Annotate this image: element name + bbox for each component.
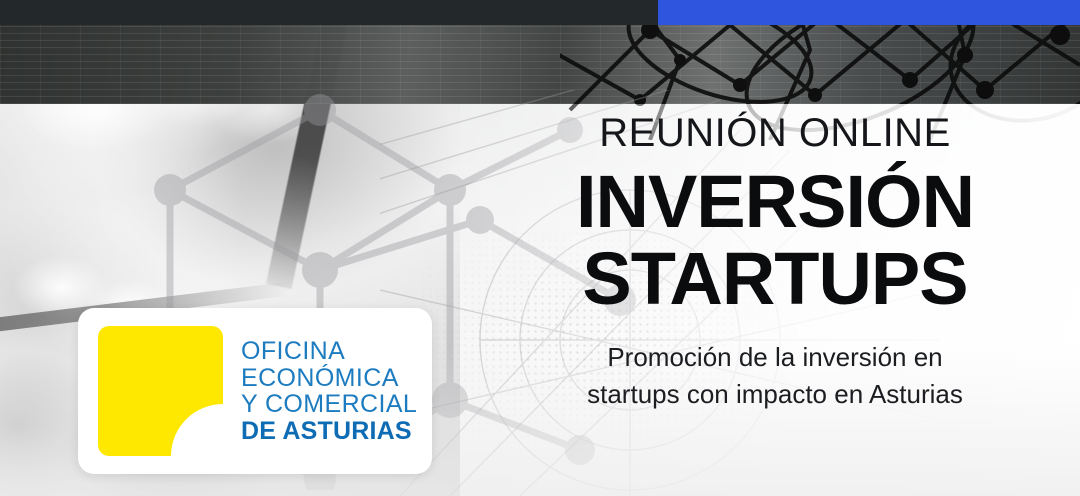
logo-line-2: ECONÓMICA (241, 365, 417, 392)
asturias-logo-icon (98, 326, 223, 456)
promo-banner: REUNIÓN ONLINE INVERSIÓN STARTUPS Promoc… (0, 0, 1080, 496)
topbar-dark-segment (0, 0, 658, 25)
subtitle-line-2: startups con impacto en Asturias (587, 379, 963, 409)
topbar-blue-segment (658, 0, 1080, 25)
logo-card[interactable]: OFICINA ECONÓMICA Y COMERCIAL DE ASTURIA… (78, 308, 432, 474)
headline-line-2: STARTUPS (470, 241, 1080, 316)
eyebrow-text: REUNIÓN ONLINE (470, 112, 1080, 154)
logo-line-3: Y COMERCIAL (241, 391, 417, 418)
logo-text-block: OFICINA ECONÓMICA Y COMERCIAL DE ASTURIA… (241, 338, 417, 444)
logo-line-1: OFICINA (241, 338, 417, 365)
logo-line-4: DE ASTURIAS (241, 418, 417, 445)
headline-text-block: REUNIÓN ONLINE INVERSIÓN STARTUPS Promoc… (470, 112, 1080, 413)
subtitle-text: Promoción de la inversión en startups co… (470, 339, 1080, 413)
top-color-bar (0, 0, 1080, 25)
subtitle-line-1: Promoción de la inversión en (607, 342, 942, 372)
headline-line-1: INVERSIÓN (470, 164, 1080, 239)
